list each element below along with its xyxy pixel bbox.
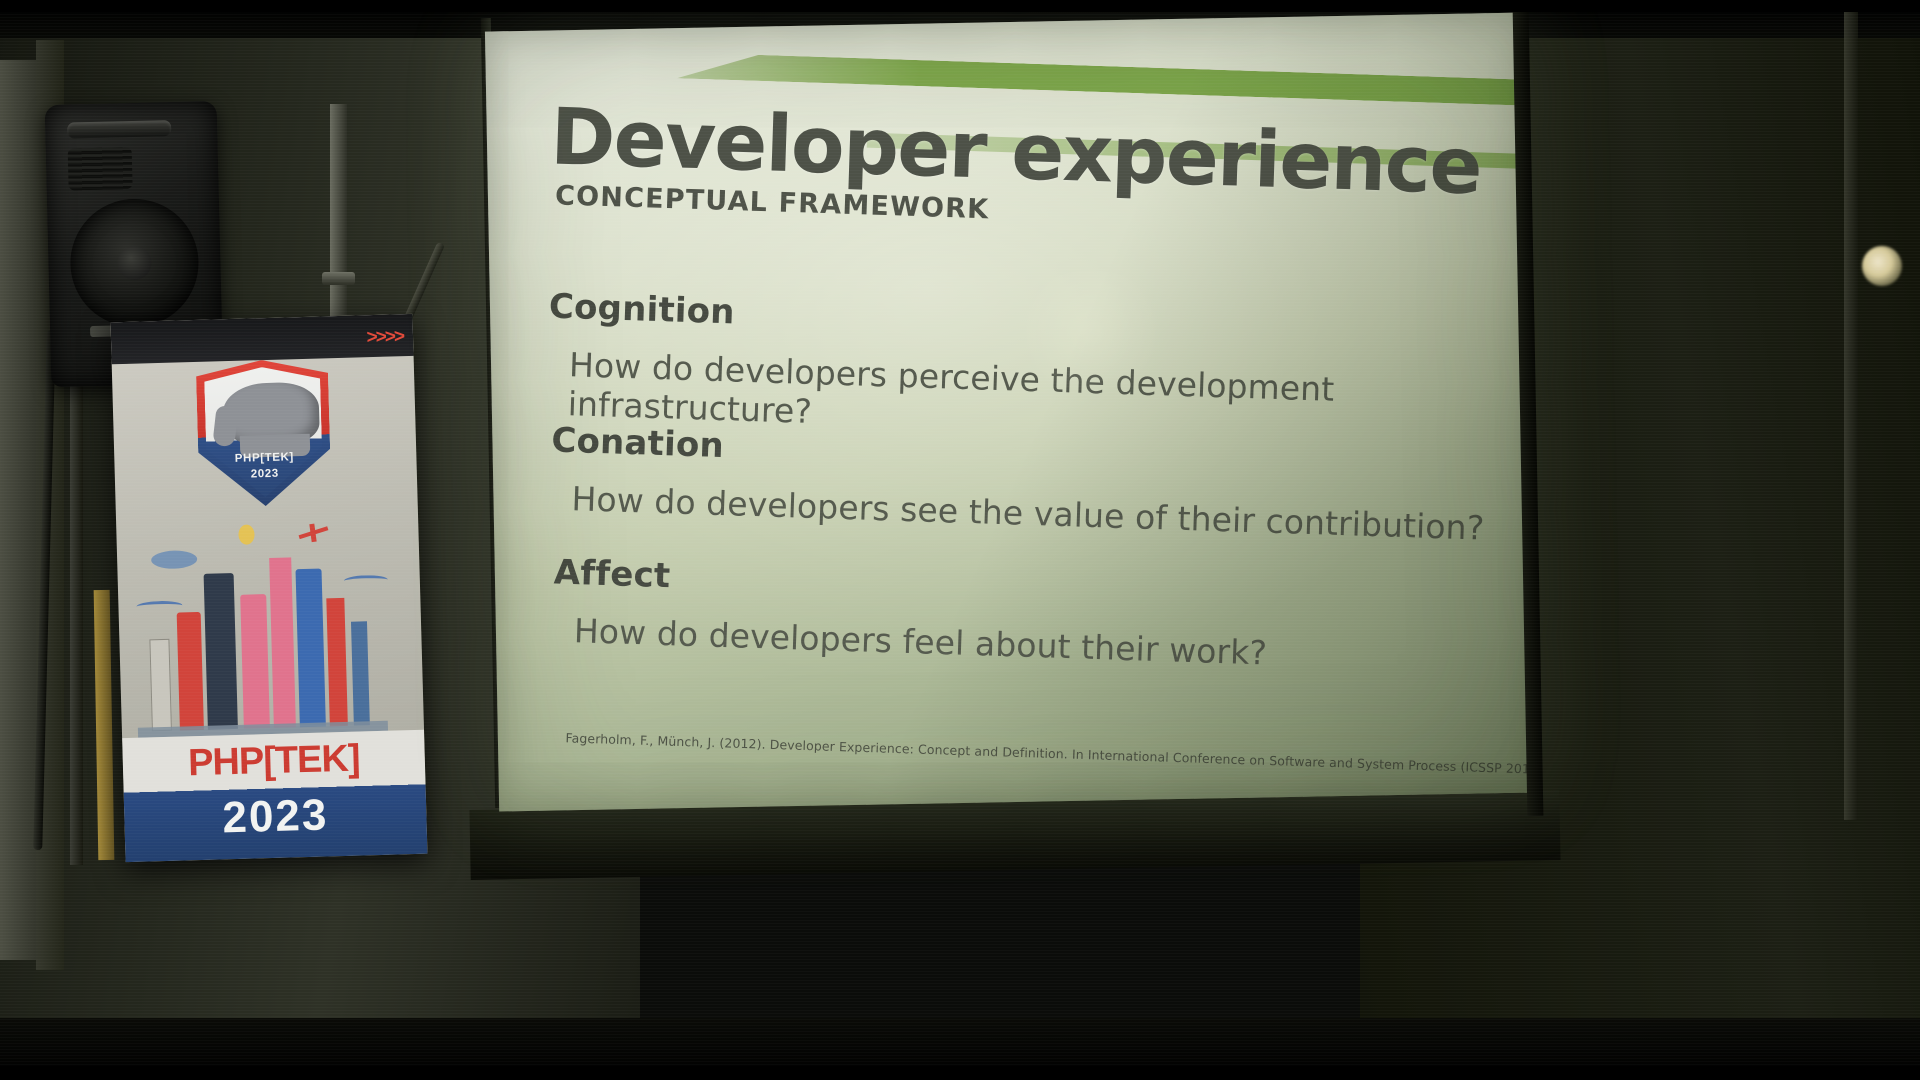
balloon-icon xyxy=(238,524,255,544)
building-5 xyxy=(295,569,325,728)
wall-post xyxy=(1844,0,1858,820)
speaker-stand-pole xyxy=(70,385,83,865)
tripod-knob xyxy=(322,272,355,285)
building-1 xyxy=(177,612,204,731)
section-label-cognition: Cognition xyxy=(548,286,1531,358)
projected-slide: Developer experience CONCEPTUAL FRAMEWOR… xyxy=(485,13,1541,812)
building-2 xyxy=(204,573,238,730)
section-label-affect: Affect xyxy=(553,552,1269,615)
banner-footer: PHP[TEK] 2023 xyxy=(122,730,427,862)
airplane-icon xyxy=(299,526,329,539)
letterbox-top xyxy=(0,0,1920,12)
banner-crest-logo: PHP[TEK] 2023 xyxy=(196,358,332,508)
event-banner: >>>> PHP[TEK] 2023 xyxy=(111,314,428,862)
slide-section-affect: Affect How do developers feel about thei… xyxy=(551,552,1269,672)
projection-screen: Developer experience CONCEPTUAL FRAMEWOR… xyxy=(485,13,1541,812)
building-4 xyxy=(269,557,296,728)
building-8 xyxy=(351,621,370,725)
ceiling-light-icon xyxy=(1862,246,1902,286)
wave-decoration-2 xyxy=(344,575,388,586)
conference-room-photo: >>>> PHP[TEK] 2023 xyxy=(0,0,1920,1080)
speaker-woofer xyxy=(69,197,200,328)
chevron-right-icon: >>>> xyxy=(366,326,403,349)
building-3 xyxy=(240,594,270,729)
speaker-handle xyxy=(67,120,171,139)
crest-shield-inner: PHP[TEK] 2023 xyxy=(204,365,324,498)
tripod-mast xyxy=(330,104,347,344)
letterbox-bottom xyxy=(0,1066,1920,1080)
blimp-icon xyxy=(151,550,197,569)
banner-header-strip: >>>> xyxy=(111,314,414,364)
section-question-affect: How do developers feel about their work? xyxy=(573,611,1267,672)
wave-decoration-1 xyxy=(136,600,182,611)
door-frame xyxy=(0,60,36,960)
slide-content: Developer experience CONCEPTUAL FRAMEWOR… xyxy=(485,13,1541,812)
elephant-icon xyxy=(222,382,320,447)
section-question-conation: How do developers see the value of their… xyxy=(571,479,1485,547)
building-6 xyxy=(326,598,348,726)
event-year-label: 2023 xyxy=(124,788,427,846)
event-name-label: PHP[TEK] xyxy=(122,736,425,787)
speaker-tweeter xyxy=(68,147,133,191)
building-7 xyxy=(149,639,172,732)
slide-citation: Fagerholm, F., Münch, J. (2012). Develop… xyxy=(565,730,1505,775)
